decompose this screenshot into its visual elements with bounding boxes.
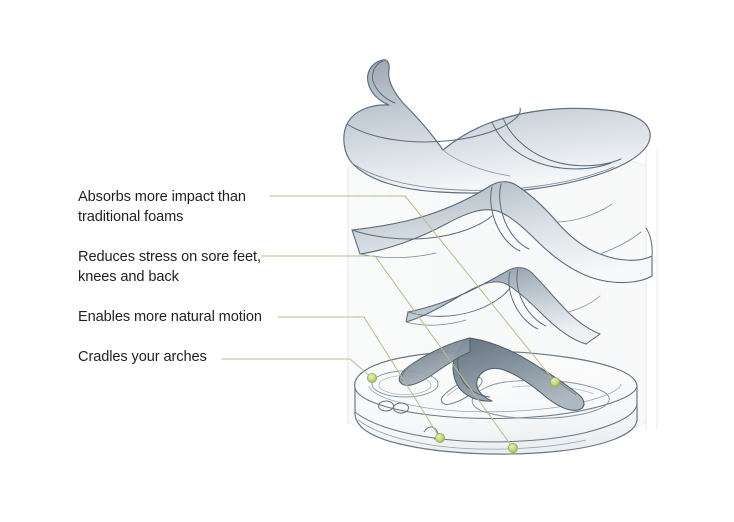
callout-label-natural-motion: Enables more natural motion — [78, 308, 262, 328]
endpoint-dot-absorbs-impact — [550, 377, 559, 386]
layer-complete-shoe — [344, 60, 650, 193]
callout-label-reduces-stress: Reduces stress on sore feet, knees and b… — [78, 248, 261, 287]
endpoint-dot-reduces-stress — [508, 443, 517, 452]
callout-label-cradles-arches: Cradles your arches — [78, 348, 207, 368]
endpoint-dot-natural-motion — [435, 433, 444, 442]
endpoint-dot-cradles-arches — [367, 373, 376, 382]
callout-label-absorbs-impact: Absorbs more impact than traditional foa… — [78, 188, 246, 227]
infographic-canvas: Absorbs more impact than traditional foa… — [0, 0, 734, 522]
